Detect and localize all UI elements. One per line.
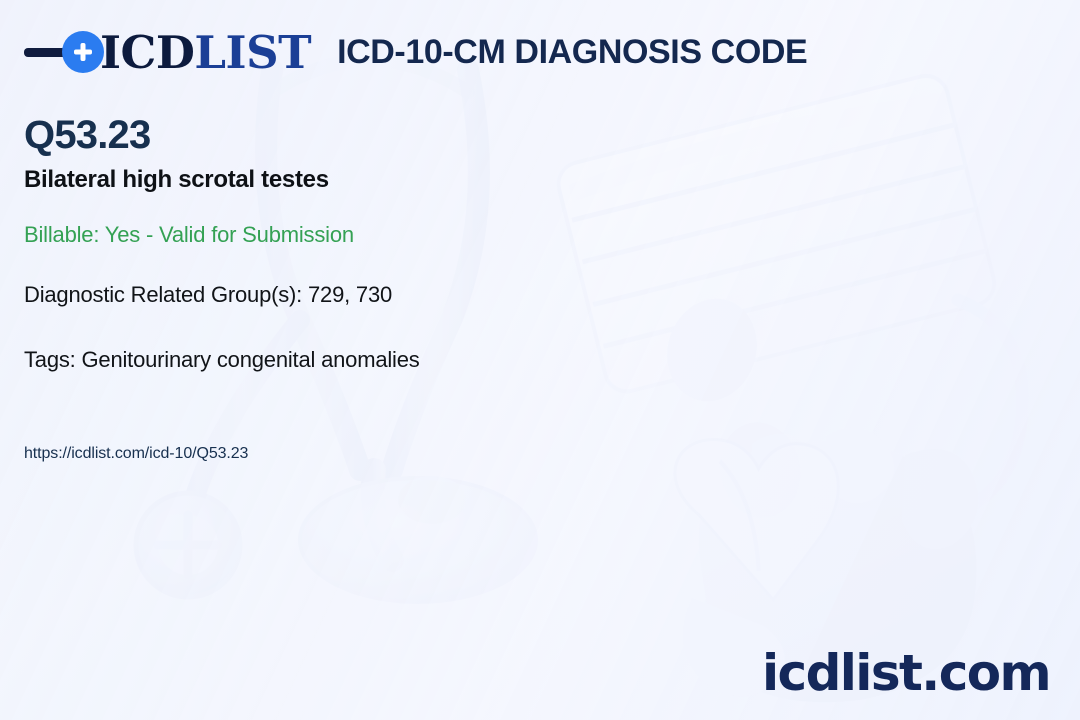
icdlist-logo[interactable]: ICDLIST xyxy=(24,26,311,78)
footer-brand: icdlist.com xyxy=(762,648,1050,698)
source-url-link[interactable]: https://icdlist.com/icd-10/Q53.23 xyxy=(24,444,248,463)
card-content: ICDLIST ICD-10-CM DIAGNOSIS CODE Q53.23 … xyxy=(0,0,1080,720)
header: ICDLIST ICD-10-CM DIAGNOSIS CODE xyxy=(24,26,807,78)
logo-text-icd: ICD xyxy=(100,26,194,79)
diagnosis-description: Bilateral high scrotal testes xyxy=(24,166,329,195)
page-title: ICD-10-CM DIAGNOSIS CODE xyxy=(337,33,807,72)
icd-code-card: ICDLIST ICD-10-CM DIAGNOSIS CODE Q53.23 … xyxy=(0,0,1080,720)
diagnosis-code: Q53.23 xyxy=(24,113,150,157)
logo-text-list: LIST xyxy=(194,26,311,79)
plus-circle-icon xyxy=(62,31,104,73)
diagnostic-related-groups: Diagnostic Related Group(s): 729, 730 xyxy=(24,282,392,308)
billable-status: Billable: Yes - Valid for Submission xyxy=(24,222,354,248)
tags-line: Tags: Genitourinary congenital anomalies xyxy=(24,347,420,373)
